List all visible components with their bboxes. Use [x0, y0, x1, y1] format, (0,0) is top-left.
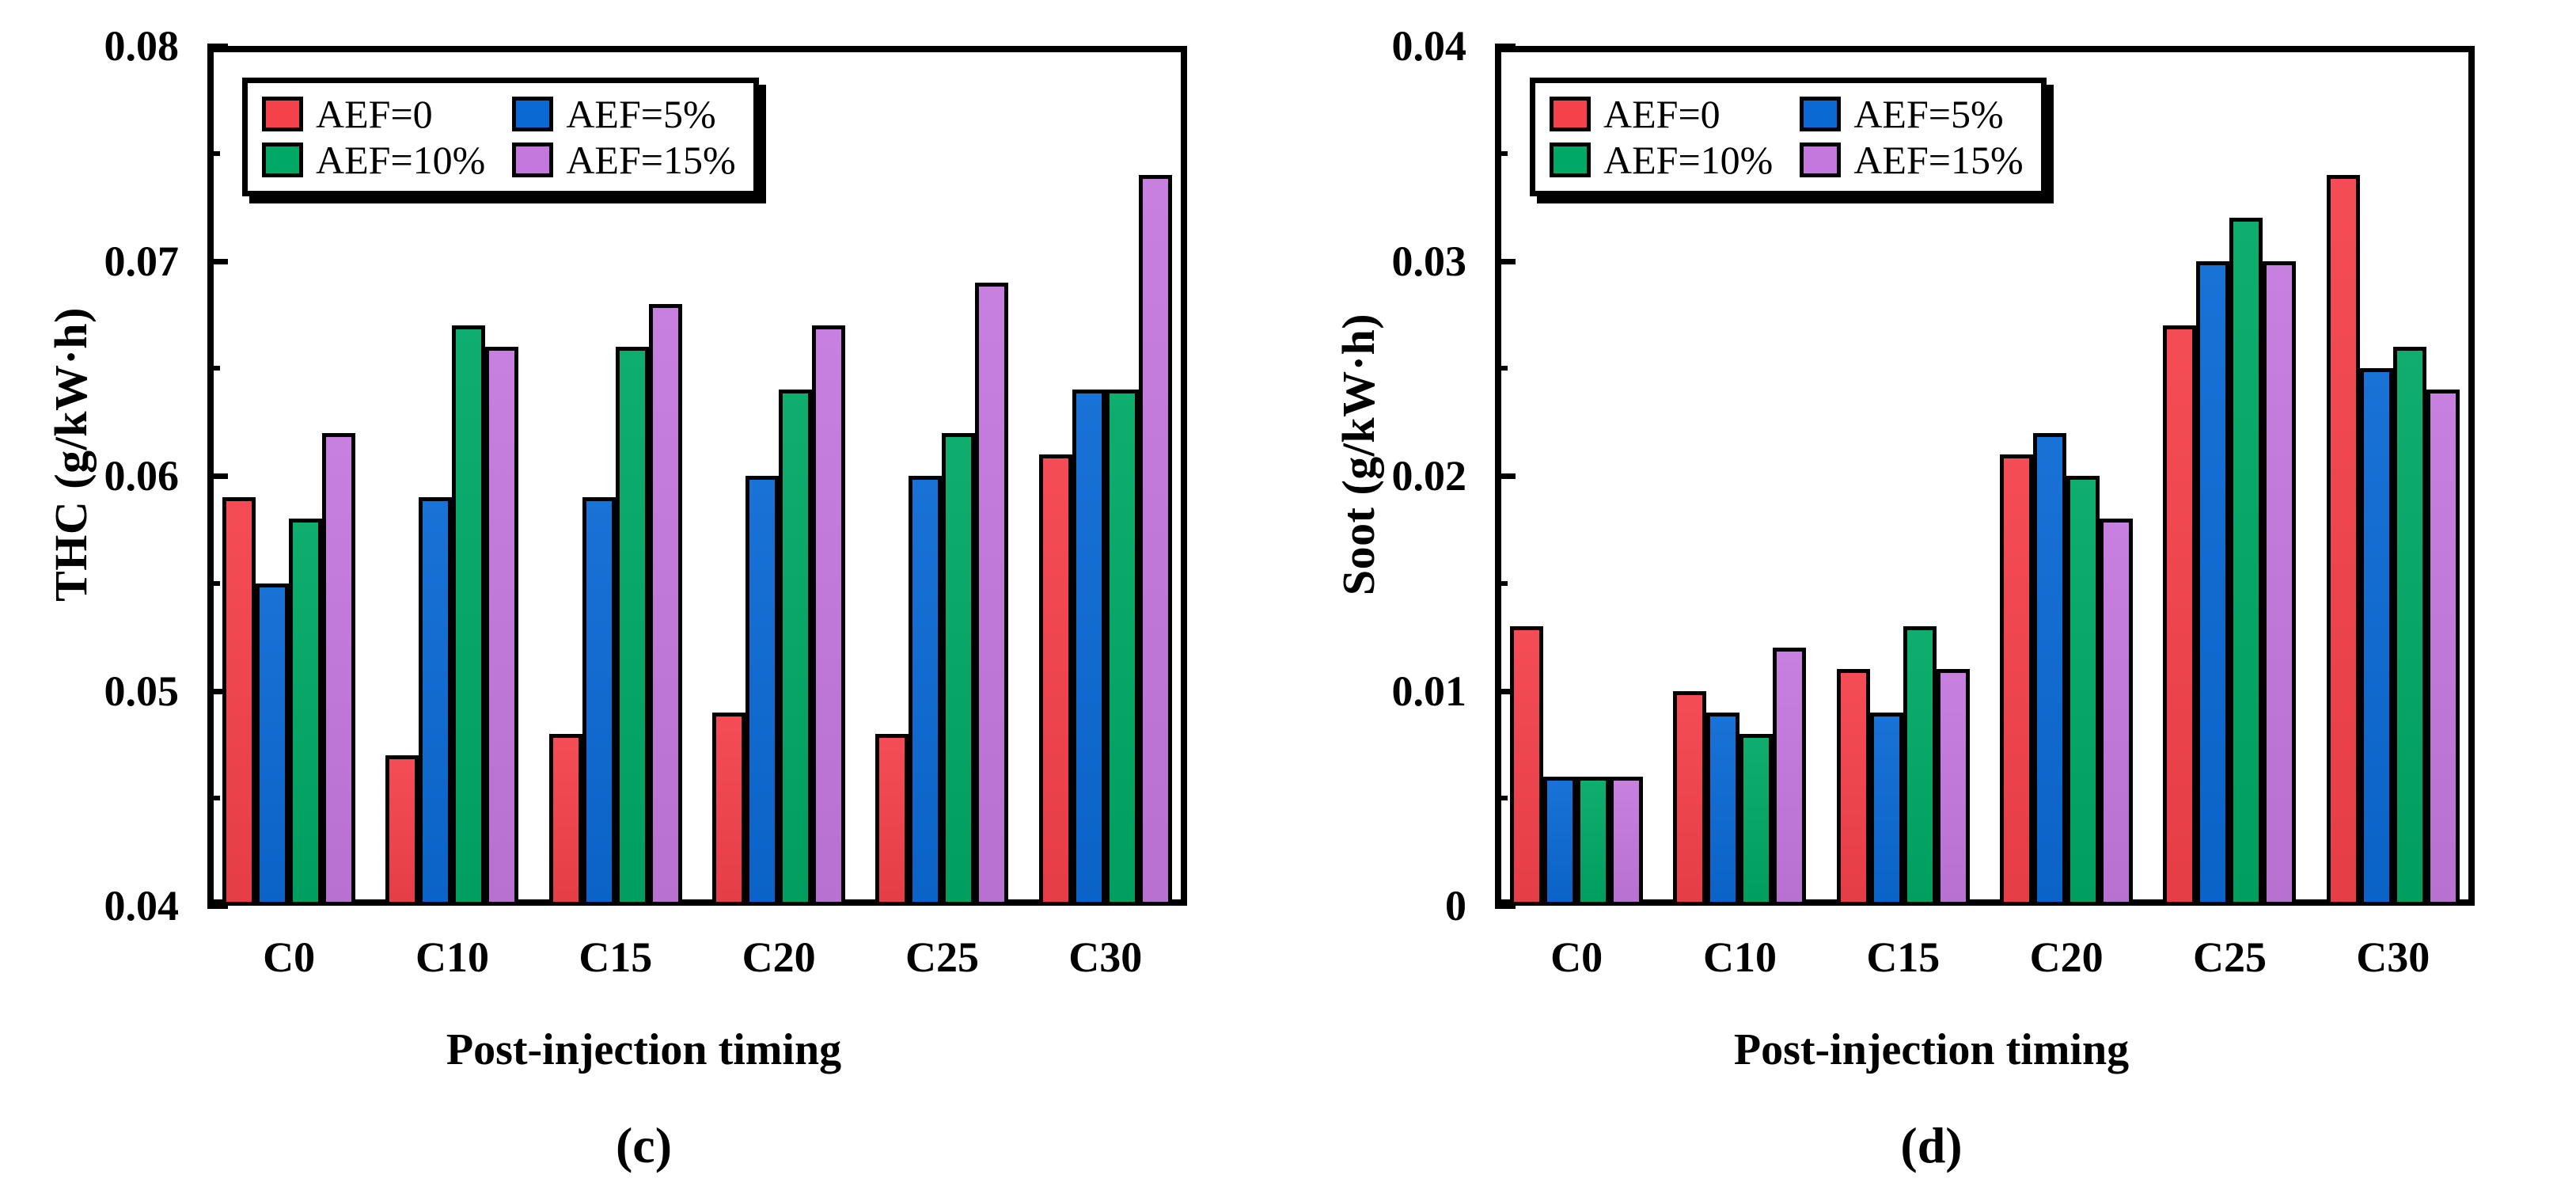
bar-C10-aef10[interactable]: [452, 325, 485, 906]
bar-C30-aef0[interactable]: [1039, 454, 1072, 906]
bar-C30-aef0[interactable]: [2327, 175, 2360, 906]
bar-C25-aef15[interactable]: [2263, 261, 2296, 907]
bar-C25-aef0[interactable]: [2163, 325, 2196, 906]
legend-label: AEF=5%: [1853, 94, 2003, 134]
x-axis-tick-label: C0: [263, 933, 315, 982]
legend-label: AEF=10%: [316, 140, 485, 180]
bar-C15-aef15[interactable]: [649, 304, 682, 906]
x-axis-tick-label: C30: [2356, 933, 2430, 982]
bar-C20-aef5[interactable]: [745, 476, 779, 906]
bar-C30-aef10[interactable]: [2393, 347, 2426, 906]
bar-C10-aef5[interactable]: [419, 497, 452, 906]
y-axis-tick-label: 0.07: [104, 237, 180, 286]
bar-group-C25: C25: [860, 46, 1023, 906]
bar-C0-aef5[interactable]: [1543, 777, 1576, 906]
bar-C30-aef5[interactable]: [1072, 390, 1106, 906]
bar-group-C25: C25: [2148, 46, 2311, 906]
bar-C20-aef10[interactable]: [779, 390, 812, 906]
bar-C20-aef15[interactable]: [2100, 519, 2133, 906]
legend-item-aef15[interactable]: AEF=15%: [512, 140, 735, 180]
bar-C30-aef5[interactable]: [2360, 368, 2393, 906]
bar-C30-aef10[interactable]: [1106, 390, 1139, 906]
bar-C10-aef15[interactable]: [1773, 648, 1806, 906]
legend-swatch-icon: [512, 97, 553, 131]
bar-C0-aef0[interactable]: [1510, 626, 1543, 906]
y-axis-label: Soot (g/kW·h): [1321, 3, 1397, 906]
x-axis-tick-label: C25: [905, 933, 979, 982]
chart-legend: AEF=0AEF=5%AEF=10%AEF=15%: [242, 78, 759, 196]
bar-C0-aef5[interactable]: [256, 583, 289, 906]
y-axis-tick-label: 0.04: [104, 881, 180, 930]
legend-swatch-icon: [262, 97, 303, 131]
bar-C20-aef10[interactable]: [2066, 476, 2100, 906]
bar-C25-aef5[interactable]: [909, 476, 942, 906]
bar-C20-aef5[interactable]: [2033, 433, 2066, 906]
x-axis-tick-label: C20: [742, 933, 816, 982]
legend-label: AEF=5%: [566, 94, 715, 134]
legend-swatch-icon: [1800, 143, 1841, 177]
legend-swatch-icon: [1550, 97, 1591, 131]
bar-group-C30: C30: [1024, 46, 1187, 906]
legend-label: AEF=0: [316, 94, 433, 134]
bar-C15-aef10[interactable]: [616, 347, 649, 906]
bar-C10-aef10[interactable]: [1739, 734, 1773, 906]
bar-C0-aef15[interactable]: [1610, 777, 1643, 906]
panel-caption: (d): [1288, 1116, 2575, 1175]
bar-C20-aef0[interactable]: [2000, 454, 2033, 906]
y-axis-tick-label: 0.02: [1392, 451, 1467, 500]
bar-C25-aef5[interactable]: [2196, 261, 2229, 907]
x-axis-tick-label: C15: [1866, 933, 1940, 982]
chart-legend: AEF=0AEF=5%AEF=10%AEF=15%: [1530, 78, 2047, 196]
legend-label: AEF=15%: [566, 140, 735, 180]
bar-C0-aef15[interactable]: [322, 433, 355, 906]
bar-C10-aef5[interactable]: [1706, 713, 1739, 906]
legend-swatch-icon: [1800, 97, 1841, 131]
x-axis-tick-label: C10: [1703, 933, 1777, 982]
x-axis-label: Post-injection timing: [0, 1024, 1288, 1075]
plot-area: 00.010.020.030.04C0C10C15C20C25C30AEF=0A…: [1495, 46, 2475, 906]
bar-C25-aef0[interactable]: [875, 734, 909, 906]
x-axis-tick-label: C25: [2193, 933, 2267, 982]
panel-caption: (c): [0, 1116, 1288, 1175]
legend-label: AEF=15%: [1853, 140, 2023, 180]
bar-C15-aef5[interactable]: [582, 497, 616, 906]
x-axis-label: Post-injection timing: [1288, 1024, 2575, 1075]
bar-C10-aef0[interactable]: [1673, 691, 1706, 907]
bar-C10-aef0[interactable]: [385, 755, 419, 906]
bar-C20-aef15[interactable]: [812, 325, 845, 906]
bar-C15-aef0[interactable]: [549, 734, 582, 906]
bar-C15-aef15[interactable]: [1937, 669, 1970, 906]
chart-panel-d: Soot (g/kW·h)00.010.020.030.04C0C10C15C2…: [1288, 0, 2575, 1186]
legend-item-aef5[interactable]: AEF=5%: [1800, 94, 2023, 134]
legend-swatch-icon: [1550, 143, 1591, 177]
bar-C15-aef0[interactable]: [1837, 669, 1870, 906]
bar-C0-aef10[interactable]: [289, 519, 322, 906]
legend-item-aef10[interactable]: AEF=10%: [1550, 140, 1773, 180]
bar-C20-aef0[interactable]: [712, 713, 745, 906]
bar-C10-aef15[interactable]: [485, 347, 518, 906]
legend-swatch-icon: [512, 143, 553, 177]
y-axis-tick-label: 0.05: [104, 667, 180, 716]
x-axis-tick-label: C15: [579, 933, 652, 982]
legend-item-aef0[interactable]: AEF=0: [1550, 94, 1773, 134]
x-axis-tick-label: C0: [1550, 933, 1603, 982]
y-axis-tick-label: 0.08: [104, 21, 180, 70]
y-axis-tick-label: 0.06: [104, 451, 180, 500]
legend-swatch-icon: [262, 143, 303, 177]
legend-item-aef5[interactable]: AEF=5%: [512, 94, 735, 134]
x-axis-tick-label: C30: [1068, 933, 1142, 982]
bar-C15-aef5[interactable]: [1870, 713, 1903, 906]
bar-C0-aef0[interactable]: [222, 497, 256, 906]
bar-group-C30: C30: [2312, 46, 2475, 906]
legend-label: AEF=0: [1603, 94, 1720, 134]
y-axis-tick-label: 0.03: [1392, 237, 1467, 286]
y-axis-tick-label: 0.01: [1392, 667, 1467, 716]
figure-two-panel-bar-charts: THC (g/kW·h)0.040.050.060.070.08C0C10C15…: [0, 0, 2576, 1186]
legend-item-aef15[interactable]: AEF=15%: [1800, 140, 2023, 180]
y-axis-tick-label: 0.04: [1392, 21, 1467, 70]
legend-item-aef0[interactable]: AEF=0: [262, 94, 485, 134]
plot-area: 0.040.050.060.070.08C0C10C15C20C25C30AEF…: [207, 46, 1187, 906]
bar-C25-aef10[interactable]: [2229, 218, 2263, 906]
bar-C0-aef10[interactable]: [1576, 777, 1610, 906]
x-axis-tick-label: C20: [2030, 933, 2104, 982]
bar-C25-aef15[interactable]: [975, 283, 1008, 906]
bar-C30-aef15[interactable]: [2426, 390, 2460, 906]
legend-item-aef10[interactable]: AEF=10%: [262, 140, 485, 180]
bar-C30-aef15[interactable]: [1139, 175, 1172, 906]
y-axis-tick-label: 0: [1445, 881, 1466, 930]
x-axis-tick-label: C10: [415, 933, 489, 982]
bar-C15-aef10[interactable]: [1903, 626, 1937, 906]
bar-C25-aef10[interactable]: [942, 433, 975, 906]
legend-label: AEF=10%: [1603, 140, 1773, 180]
chart-panel-c: THC (g/kW·h)0.040.050.060.070.08C0C10C15…: [0, 0, 1288, 1186]
y-axis-label: THC (g/kW·h): [33, 3, 109, 906]
